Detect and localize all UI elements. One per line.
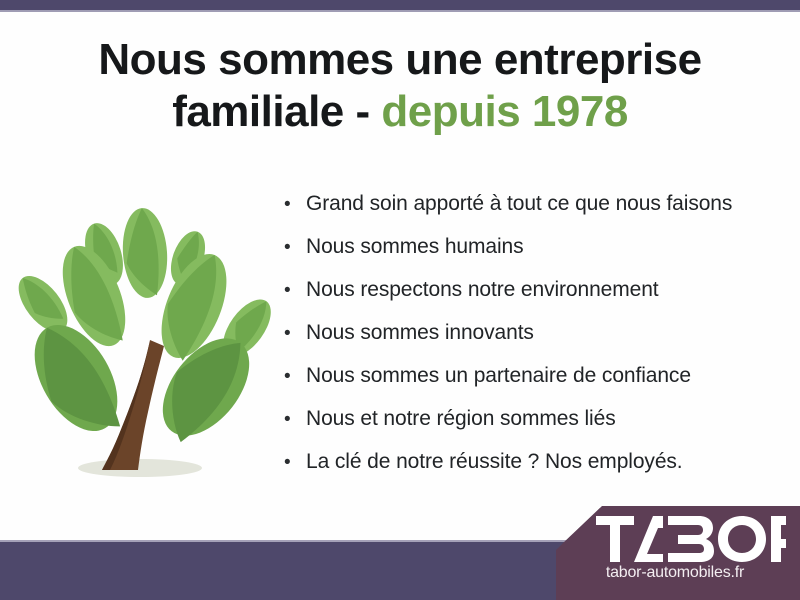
bullet-marker-icon: • [284,453,306,472]
bullet-marker-icon: • [284,195,306,214]
list-item: • Nous et notre région sommes liés [284,407,784,450]
list-item: • Nous respectons notre environnement [284,278,784,321]
logo-letter-b [668,516,714,562]
logo-url-label: tabor-automobiles.fr [556,564,794,582]
title-line-2-accent: depuis 1978 [381,87,627,136]
leaf-top-center [120,207,170,300]
logo-letter-a [634,516,663,562]
bullet-marker-icon: • [284,410,306,429]
list-item: • La clé de notre réussite ? Nos employé… [284,450,784,493]
list-item-label: Nous respectons notre environnement [306,278,659,302]
list-item-label: Nous et notre région sommes liés [306,407,616,431]
bullet-marker-icon: • [284,238,306,257]
bullet-marker-icon: • [284,367,306,386]
list-item-label: Nous sommes humains [306,235,524,259]
top-accent-band [0,0,800,10]
list-item: • Nous sommes innovants [284,321,784,364]
title-line-2-plain: familiale - [172,87,369,136]
slide-canvas: Nous sommes une entreprise familiale - d… [0,0,800,600]
list-item: • Grand soin apporté à tout ce que nous … [284,192,784,235]
list-item-label: Nous sommes un partenaire de confiance [306,364,691,388]
ground-shadow-ellipse [78,459,202,477]
list-item-label: Nous sommes innovants [306,321,534,345]
bullet-list: • Grand soin apporté à tout ce que nous … [284,192,784,493]
title-line-1: Nous sommes une entreprise [60,34,740,86]
bullet-marker-icon: • [284,324,306,343]
title-line-2: familiale - depuis 1978 [60,86,740,138]
list-item-label: Grand soin apporté à tout ce que nous fa… [306,192,732,216]
list-item-label: La clé de notre réussite ? Nos employés. [306,450,683,474]
logo-wordmark [596,516,786,562]
top-accent-hairline [0,10,800,12]
list-item: • Nous sommes un partenaire de confiance [284,364,784,407]
page-title: Nous sommes une entreprise familiale - d… [60,34,740,138]
logo-letter-r [771,516,786,562]
list-item: • Nous sommes humains [284,235,784,278]
logo-letter-o [718,516,766,562]
logo-letter-t [596,516,634,562]
tree-illustration [14,196,280,486]
bullet-marker-icon: • [284,281,306,300]
